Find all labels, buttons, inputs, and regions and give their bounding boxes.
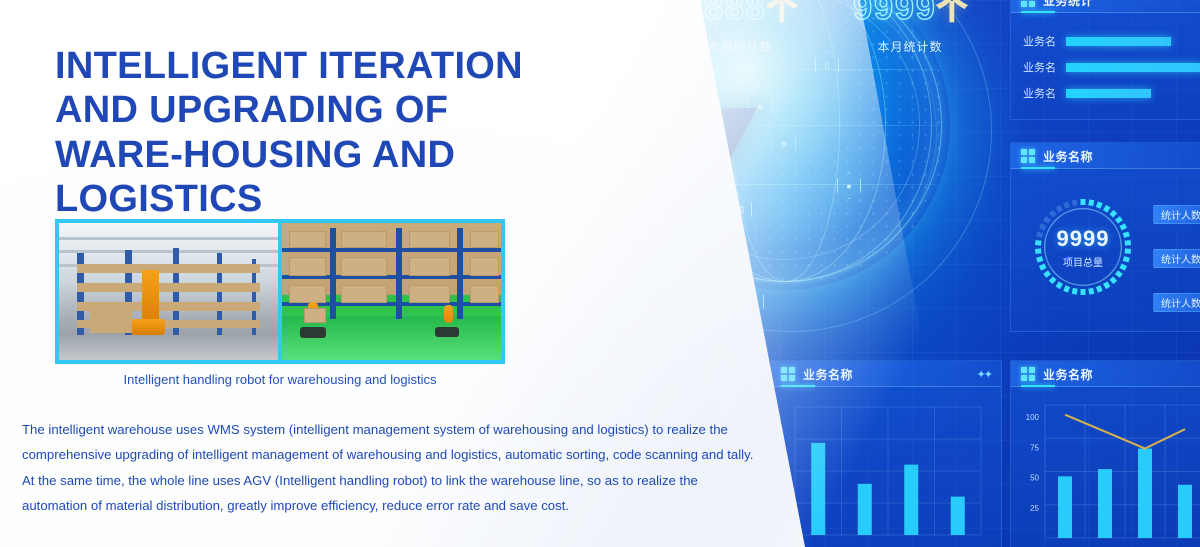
bar-row: 业务名	[1023, 85, 1200, 101]
bar-row: 业务名	[1023, 59, 1200, 75]
bar-row-value	[1066, 63, 1200, 72]
photo-agv-robots	[282, 223, 501, 360]
stat-week-unit: 个	[767, 0, 797, 26]
stat-pill[interactable]: 统计人数	[1153, 293, 1200, 312]
photo-warehouse-forklift	[59, 223, 278, 360]
bar-row-label: 业务名	[1023, 85, 1056, 101]
panel-business-statistics-header: 业务统计	[1011, 0, 1200, 13]
panel-divider	[1011, 386, 1200, 387]
agv-robot-mast	[444, 305, 453, 323]
svg-text:25: 25	[1030, 504, 1039, 513]
bar-row: 业务名	[1023, 33, 1200, 49]
grid-icon	[1021, 149, 1035, 163]
warehouse-floor	[59, 333, 278, 360]
panel-divider	[1011, 168, 1200, 169]
panel-project-total-title: 业务名称	[1043, 148, 1093, 165]
stat-month-value: 9999	[853, 0, 937, 27]
svg-text:100: 100	[1026, 413, 1040, 422]
stat-month: 9999个 本月统计数	[830, 0, 990, 55]
panel-project-total[interactable]: 业务名称 9999 项目总量 统计人数 统计人数 统计人数	[1010, 142, 1200, 332]
svg-text:50: 50	[1030, 474, 1039, 483]
agv-robot-base	[300, 327, 326, 338]
stat-pill[interactable]: 统计人数	[1153, 205, 1200, 224]
grid-icon	[1021, 0, 1035, 7]
forklift-body	[131, 319, 165, 335]
agv-robot-base	[435, 327, 459, 337]
panel-divider	[771, 386, 1001, 387]
stat-pill[interactable]: 统计人数	[1153, 249, 1200, 268]
chart-right-canvas: 255075100	[1019, 399, 1200, 547]
panel-chart-right[interactable]: 业务名称 255075100	[1010, 360, 1200, 547]
panel-chart-right-header: 业务名称	[1011, 361, 1200, 387]
bar-row-value	[1066, 37, 1171, 46]
stat-month-label: 本月统计数	[830, 38, 990, 55]
pallet-load	[90, 311, 132, 333]
photo-pair	[55, 219, 505, 364]
panel-business-statistics[interactable]: 业务统计 业务名 业务名 业务名	[1010, 0, 1200, 120]
panel-chart-left-header: 业务名称 ✦✦	[771, 361, 1001, 387]
sparkle-icon: ✦✦	[977, 368, 991, 381]
chart-left-canvas	[785, 401, 985, 547]
panel-divider	[1011, 12, 1200, 13]
gauge-center: 9999 项目总量	[1044, 208, 1122, 286]
bar-row-label: 业务名	[1023, 59, 1056, 75]
page-title: INTELLIGENT ITERATION AND UPGRADING OF W…	[55, 44, 575, 222]
svg-text:75: 75	[1030, 443, 1039, 452]
stat-month-unit: 个	[937, 0, 967, 26]
bar-row-value	[1066, 89, 1151, 98]
body-paragraph: The intelligent warehouse uses WMS syste…	[22, 417, 762, 518]
gauge-value: 9999	[1057, 226, 1110, 252]
panel-chart-right-title: 业务名称	[1043, 366, 1093, 383]
warehouse-roof	[59, 223, 278, 270]
panel-project-total-header: 业务名称	[1011, 143, 1200, 169]
panel-chart-left-title: 业务名称	[803, 366, 853, 383]
gauge-label: 项目总量	[1063, 254, 1103, 269]
grid-icon	[1021, 367, 1035, 381]
panel-chart-left[interactable]: 业务名称 ✦✦	[770, 360, 1002, 547]
project-total-gauge: 9999 项目总量	[1027, 191, 1139, 303]
bar-row-label: 业务名	[1023, 33, 1056, 49]
grid-icon	[781, 367, 795, 381]
agv-carried-box	[304, 308, 326, 323]
banner-root: ☉ ▯ ▲ ○ ● ▤ ◓ ◻ ◆ 8888个 本周统计数 9999个 本月统计…	[0, 0, 1200, 547]
panel-business-statistics-title: 业务统计	[1043, 0, 1093, 9]
photo-caption: Intelligent handling robot for warehousi…	[55, 372, 505, 387]
